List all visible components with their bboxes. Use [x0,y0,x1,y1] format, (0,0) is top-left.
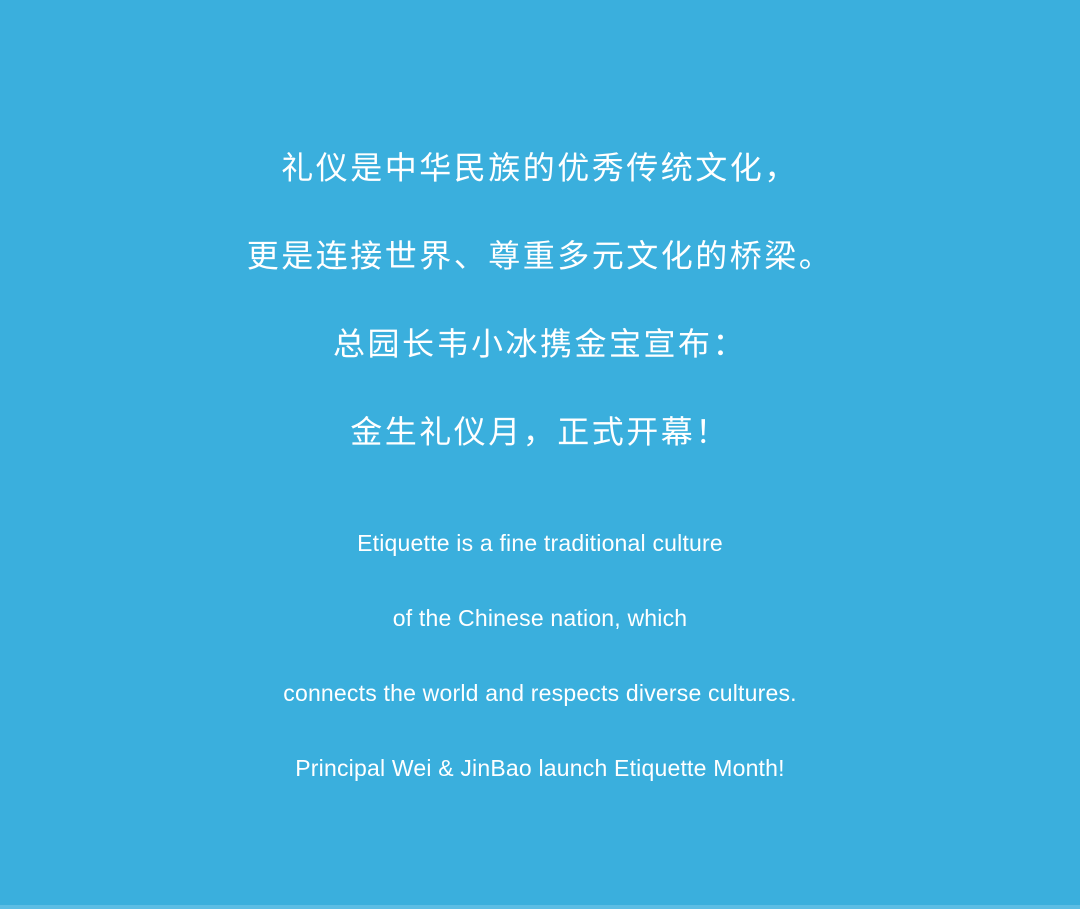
english-text-block: Etiquette is a fine traditional culture … [0,506,1080,806]
chinese-line-4: 金生礼仪月，正式开幕！ [0,388,1080,476]
english-line-2: of the Chinese nation, which [0,581,1080,656]
chinese-line-1: 礼仪是中华民族的优秀传统文化， [0,124,1080,212]
english-line-3: connects the world and respects diverse … [0,656,1080,731]
chinese-text-block: 礼仪是中华民族的优秀传统文化， 更是连接世界、尊重多元文化的桥梁。 总园长韦小冰… [0,124,1080,476]
chinese-line-3: 总园长韦小冰携金宝宣布： [0,300,1080,388]
english-line-1: Etiquette is a fine traditional culture [0,506,1080,581]
english-line-4: Principal Wei & JinBao launch Etiquette … [0,731,1080,806]
announcement-poster: 礼仪是中华民族的优秀传统文化， 更是连接世界、尊重多元文化的桥梁。 总园长韦小冰… [0,0,1080,909]
bottom-edge-strip [0,905,1080,909]
chinese-line-2: 更是连接世界、尊重多元文化的桥梁。 [0,212,1080,300]
poster-text-content: 礼仪是中华民族的优秀传统文化， 更是连接世界、尊重多元文化的桥梁。 总园长韦小冰… [0,0,1080,806]
